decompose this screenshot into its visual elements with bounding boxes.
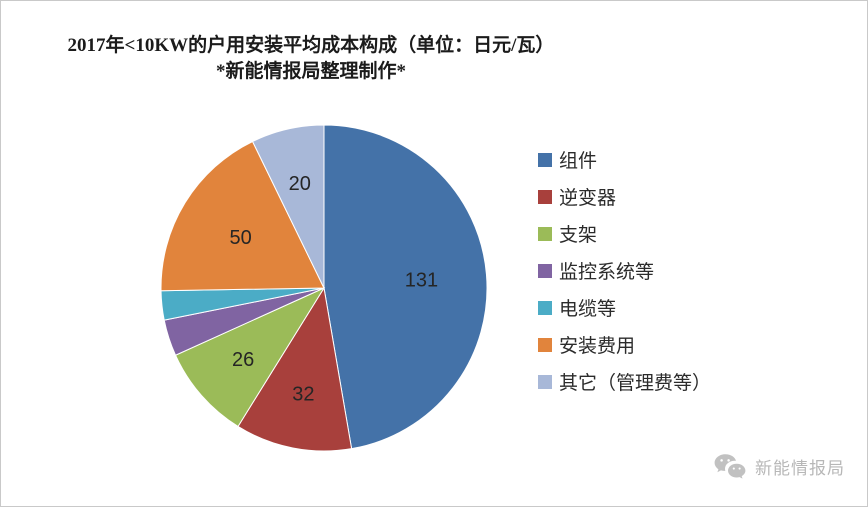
legend-item[interactable]: 支架: [538, 215, 778, 252]
chart-title-block: 2017年<10KW的户用安装平均成本构成（单位：日元/瓦） *新能情报局整理制…: [1, 33, 621, 85]
legend-color-swatch: [538, 301, 552, 315]
pie-data-label: 50: [229, 227, 251, 249]
legend-item[interactable]: 其它（管理费等）: [538, 363, 778, 400]
chart-title: 2017年<10KW的户用安装平均成本构成（单位：日元/瓦）: [1, 33, 621, 59]
pie-svg: 13132261085020: [159, 123, 489, 453]
legend-item[interactable]: 安装费用: [538, 326, 778, 363]
pie-data-label: 32: [292, 384, 314, 406]
legend-item-label: 支架: [559, 220, 597, 247]
pie-slice-group: [161, 125, 487, 451]
legend-item[interactable]: 逆变器: [538, 178, 778, 215]
legend-item[interactable]: 组件: [538, 141, 778, 178]
legend-item-label: 安装费用: [559, 331, 635, 358]
legend-color-swatch: [538, 264, 552, 278]
legend-color-swatch: [538, 227, 552, 241]
legend-color-swatch: [538, 375, 552, 389]
legend-item[interactable]: 电缆等: [538, 289, 778, 326]
legend-item-label: 组件: [559, 146, 597, 173]
legend-item-label: 逆变器: [559, 183, 616, 210]
pie-data-label: 131: [405, 270, 438, 292]
chart-canvas: 2017年<10KW的户用安装平均成本构成（单位：日元/瓦） *新能情报局整理制…: [0, 0, 868, 507]
legend-item-label: 其它（管理费等）: [559, 368, 711, 395]
chart-legend: 组件逆变器支架监控系统等电缆等安装费用其它（管理费等）: [538, 141, 778, 400]
legend-color-swatch: [538, 153, 552, 167]
watermark: 新能情报局: [713, 452, 845, 480]
legend-item-label: 电缆等: [559, 294, 616, 321]
pie-chart: 13132261085020: [159, 123, 489, 453]
watermark-text: 新能情报局: [755, 454, 845, 479]
pie-data-label: 26: [232, 349, 254, 371]
legend-item-label: 监控系统等: [559, 257, 654, 284]
legend-color-swatch: [538, 190, 552, 204]
legend-item[interactable]: 监控系统等: [538, 252, 778, 289]
chart-subtitle: *新能情报局整理制作*: [1, 59, 621, 85]
legend-color-swatch: [538, 338, 552, 352]
wechat-icon: [713, 452, 747, 480]
pie-data-label: 20: [289, 173, 311, 195]
